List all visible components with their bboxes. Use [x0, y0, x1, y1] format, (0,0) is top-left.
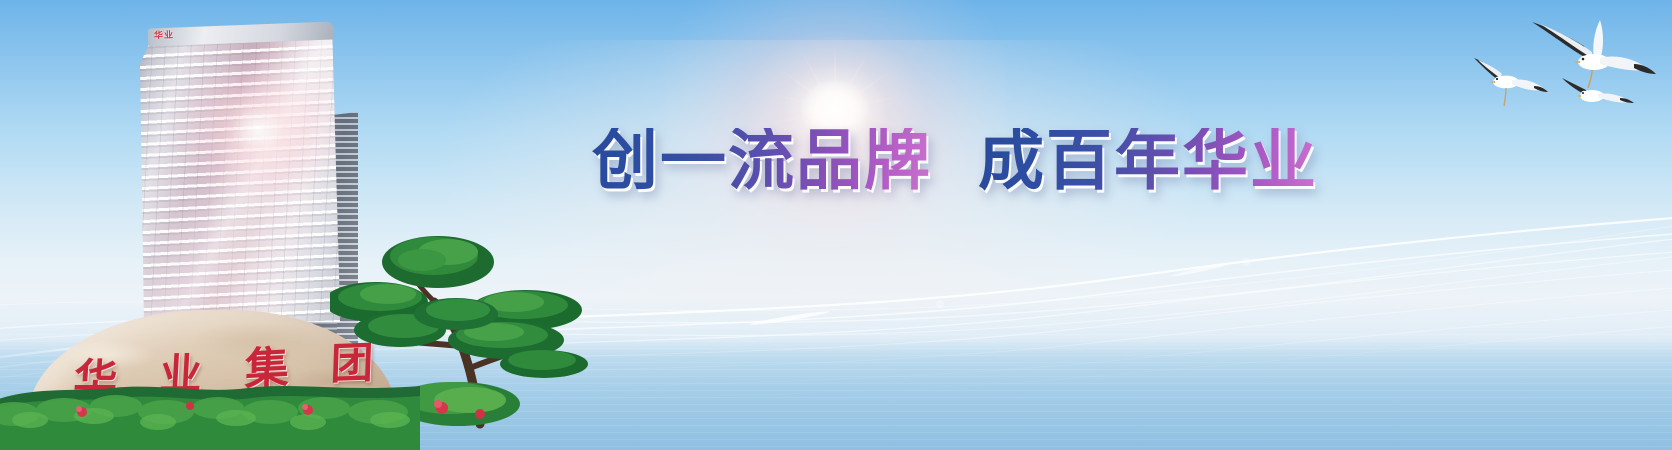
seagull-third — [1562, 78, 1634, 103]
seagull-large — [1532, 20, 1656, 88]
tower-lens-flare — [173, 55, 343, 205]
building-rooftop-sign: 华业 — [154, 28, 174, 42]
seagull-small — [1474, 58, 1548, 106]
slogan-line-1: 创一流品牌 — [592, 128, 932, 194]
company-hero-banner: 华业 华 业 集 团 — [0, 0, 1672, 450]
shrub-hedge — [0, 376, 420, 450]
seagull-icon — [1378, 2, 1672, 130]
slogan-headline: 创一流品牌 成百年华业 — [592, 128, 1318, 194]
slogan-line-2: 成百年华业 — [978, 128, 1318, 194]
building-icon: 华业 — [140, 22, 340, 322]
